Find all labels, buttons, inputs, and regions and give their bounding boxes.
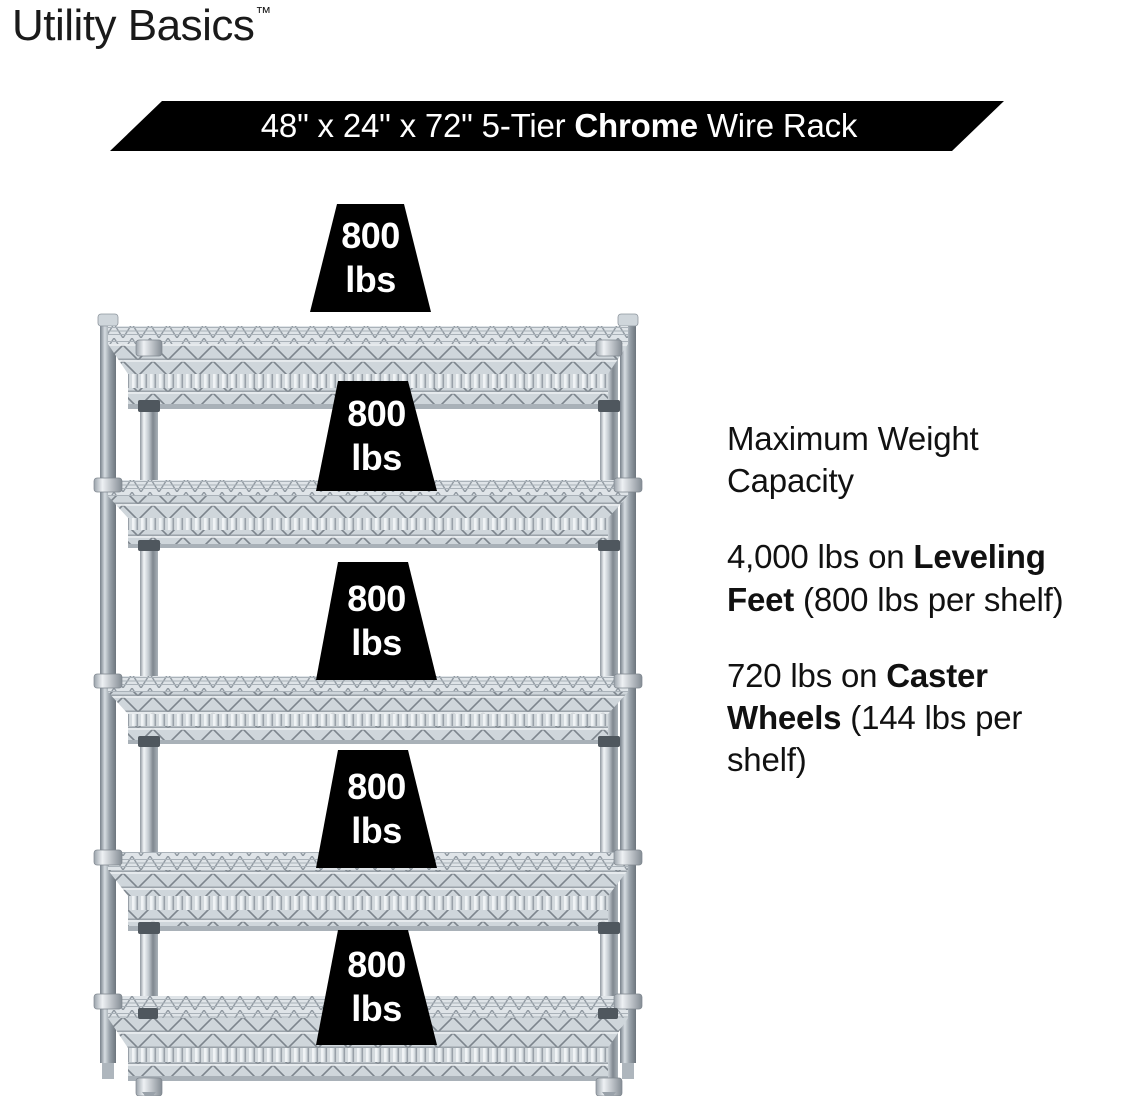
weight-badge-4: 800 lbs (316, 750, 437, 868)
banner-product: Wire Rack (707, 107, 857, 144)
trademark-symbol: ™ (255, 5, 271, 22)
badge-label: 800 lbs (316, 750, 437, 868)
badge-weight-unit: lbs (351, 440, 402, 477)
badge-weight-number: 800 (347, 396, 406, 433)
badge-label: 800 lbs (316, 381, 437, 491)
banner-tier: 5-Tier (482, 107, 566, 144)
badge-weight-unit: lbs (351, 625, 402, 662)
shelf-3 (94, 674, 642, 747)
product-title-text: 48" x 24" x 72" 5-Tier Chrome Wire Rack (261, 109, 857, 142)
brand-logo: Utility Basics™ (12, 4, 270, 48)
leveling-feet-capacity: 4,000 lbs on Leveling Feet (800 lbs per … (727, 536, 1107, 620)
weight-badge-1: 800 lbs (310, 204, 431, 312)
copy-spacer (727, 502, 1107, 536)
banner-finish: Chrome (574, 107, 698, 144)
leveling-total: 4,000 lbs on (727, 538, 913, 575)
badge-label: 800 lbs (316, 562, 437, 680)
badge-weight-number: 800 (341, 218, 400, 255)
badge-weight-number: 800 (347, 769, 406, 806)
leveling-detail: (800 lbs per shelf) (794, 581, 1063, 618)
badge-weight-number: 800 (347, 947, 406, 984)
banner-dimensions: 48" x 24" x 72" (261, 107, 473, 144)
copy-spacer (727, 621, 1107, 655)
capacity-copy: Maximum Weight Capacity 4,000 lbs on Lev… (727, 418, 1107, 782)
brand-name: Utility Basics (12, 1, 254, 50)
weight-badge-3: 800 lbs (316, 562, 437, 680)
badge-label: 800 lbs (310, 204, 431, 312)
badge-weight-unit: lbs (351, 813, 402, 850)
weight-badge-5: 800 lbs (316, 930, 437, 1045)
badge-weight-unit: lbs (351, 991, 402, 1028)
badge-weight-unit: lbs (345, 262, 396, 299)
weight-badge-2: 800 lbs (316, 381, 437, 491)
product-title-banner: 48" x 24" x 72" 5-Tier Chrome Wire Rack (110, 101, 1004, 151)
caster-wheels-capacity: 720 lbs on Caster Wheels (144 lbs per sh… (727, 655, 1107, 782)
badge-weight-number: 800 (347, 581, 406, 618)
badge-label: 800 lbs (316, 930, 437, 1045)
capacity-heading: Maximum Weight Capacity (727, 418, 1107, 502)
caster-total: 720 lbs on (727, 657, 886, 694)
